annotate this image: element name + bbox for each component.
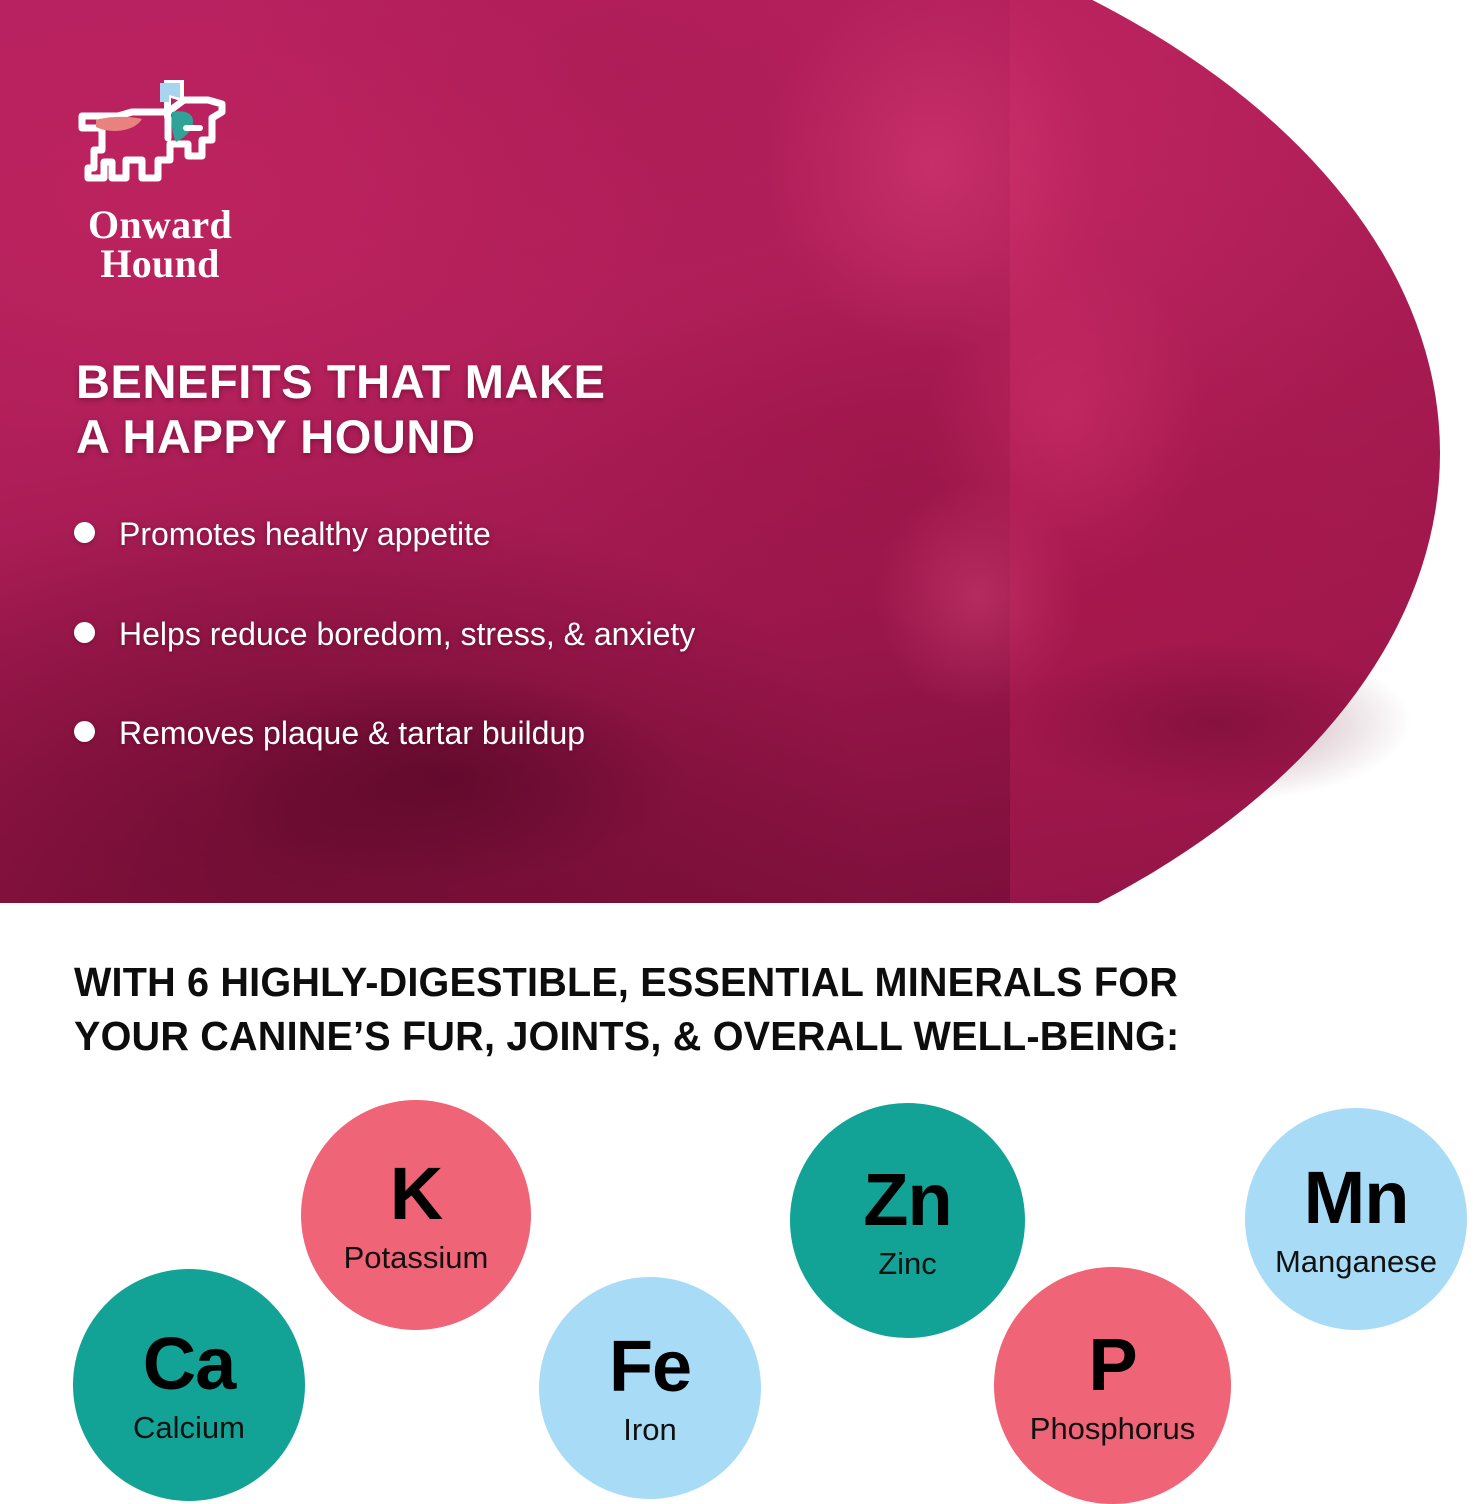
- mineral-bubble-potassium: K Potassium: [301, 1100, 531, 1330]
- mineral-symbol: Ca: [143, 1327, 236, 1401]
- mineral-name: Calcium: [133, 1412, 245, 1443]
- mineral-bubble-iron: Fe Iron: [539, 1277, 761, 1499]
- mineral-symbol: Fe: [609, 1331, 691, 1403]
- mineral-bubble-phosphorus: P Phosphorus: [994, 1267, 1231, 1504]
- mineral-bubble-manganese: Mn Manganese: [1245, 1108, 1467, 1330]
- mineral-name: Phosphorus: [1030, 1413, 1195, 1444]
- mineral-bubble-calcium: Ca Calcium: [73, 1269, 305, 1501]
- mineral-bubbles: Ca Calcium K Potassium Fe Iron Zn Zinc P…: [0, 0, 1481, 1500]
- mineral-symbol: Mn: [1304, 1161, 1409, 1235]
- mineral-name: Iron: [623, 1414, 676, 1445]
- mineral-name: Manganese: [1275, 1246, 1437, 1277]
- mineral-symbol: P: [1088, 1328, 1136, 1402]
- mineral-name: Potassium: [344, 1242, 489, 1273]
- mineral-bubble-zinc: Zn Zinc: [790, 1103, 1025, 1338]
- mineral-symbol: Zn: [863, 1163, 951, 1237]
- mineral-symbol: K: [390, 1157, 442, 1231]
- mineral-name: Zinc: [878, 1248, 937, 1279]
